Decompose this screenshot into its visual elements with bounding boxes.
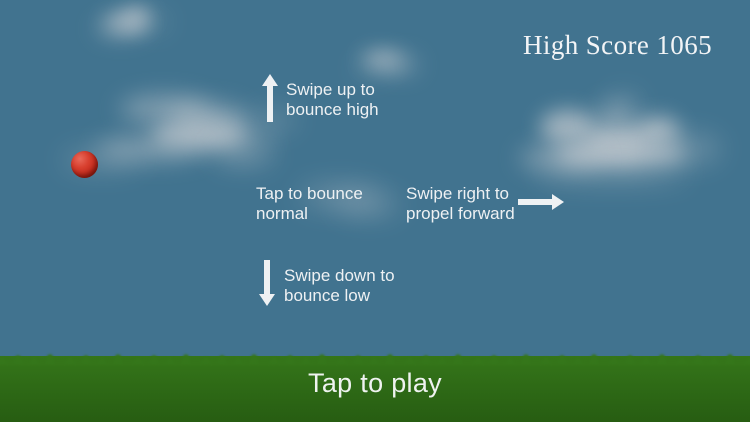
arrow-right-icon: [518, 194, 564, 210]
tap-to-play-button[interactable]: Tap to play: [0, 368, 750, 399]
arrow-up-icon: [262, 74, 278, 122]
hint-swipe-right-line1: Swipe right to: [406, 184, 515, 204]
hint-swipe-down-line2: bounce low: [284, 286, 395, 306]
grass-fringe: [0, 349, 750, 365]
hint-swipe-up: Swipe up to bounce high: [286, 80, 379, 120]
hint-tap-line1: Tap to bounce: [256, 184, 363, 204]
hint-swipe-down: Swipe down to bounce low: [284, 266, 395, 306]
hint-swipe-up-line1: Swipe up to: [286, 80, 379, 100]
hint-swipe-right: Swipe right to propel forward: [406, 184, 515, 224]
high-score-label: High Score 1065: [523, 30, 712, 61]
arrow-down-icon: [259, 260, 275, 306]
hint-swipe-right-line2: propel forward: [406, 204, 515, 224]
hint-swipe-up-line2: bounce high: [286, 100, 379, 120]
hint-swipe-down-line1: Swipe down to: [284, 266, 395, 286]
hint-tap-to-bounce: Tap to bounce normal: [256, 184, 363, 224]
player-ball: [71, 151, 98, 178]
hint-tap-line2: normal: [256, 204, 363, 224]
game-screen[interactable]: High Score 1065 Swipe up to bounce high …: [0, 0, 750, 422]
